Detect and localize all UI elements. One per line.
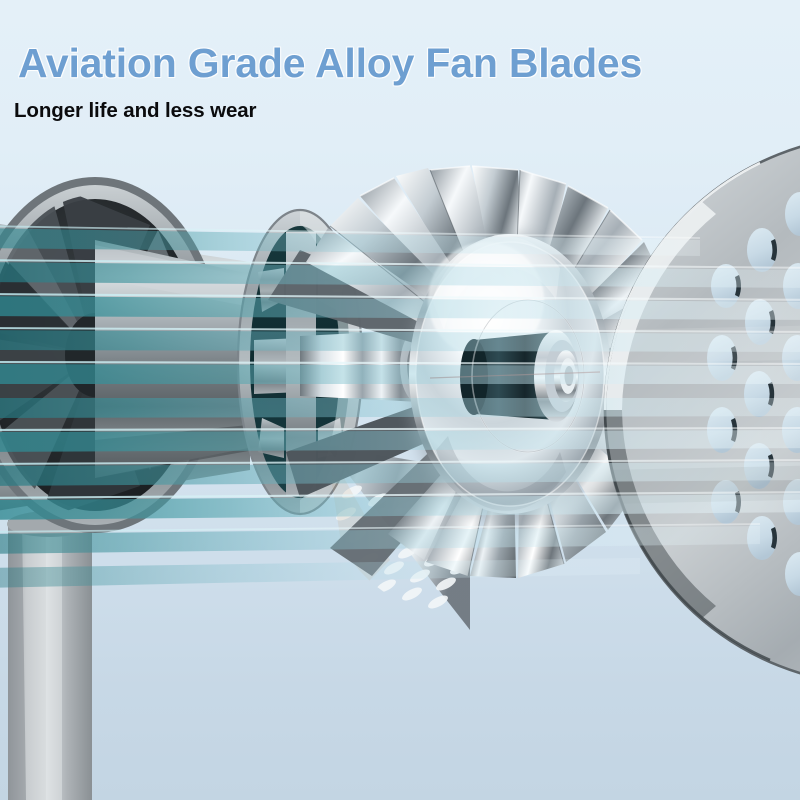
page-subtitle: Longer life and less wear [14, 99, 256, 123]
impeller-hub [406, 234, 618, 526]
page-title: Aviation Grade Alloy Fan Blades [18, 40, 642, 87]
handle [7, 511, 93, 800]
grille-plate [605, 135, 800, 685]
product-banner: Aviation Grade Alloy Fan Blades Longer l… [0, 0, 800, 800]
